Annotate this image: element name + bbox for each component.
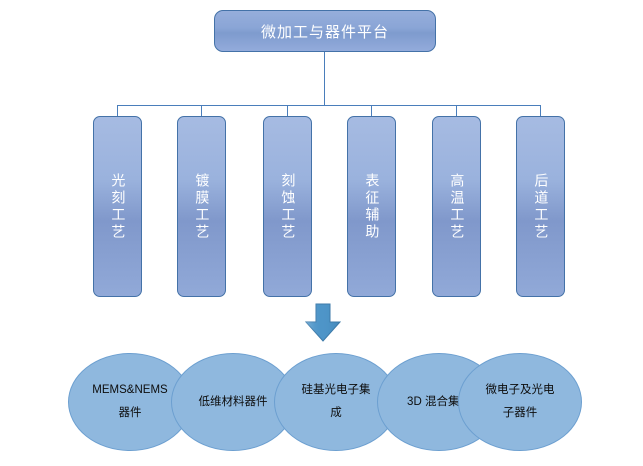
process-box-etching[interactable]: 刻蚀工艺 — [263, 116, 312, 297]
platform-hierarchy-diagram: 微加工与器件平台 光刻工艺 镀膜工艺 刻蚀工艺 表征辅助 高温工艺 后道工艺 — [0, 0, 643, 466]
process-box-label: 表征辅助 — [361, 173, 383, 241]
connector-drop-2 — [201, 105, 202, 116]
connector-drop-6 — [540, 105, 541, 116]
process-box-characterization[interactable]: 表征辅助 — [347, 116, 396, 297]
connector-horizontal-bus — [117, 105, 541, 106]
connector-drop-5 — [456, 105, 457, 116]
process-box-photolithography[interactable]: 光刻工艺 — [93, 116, 142, 297]
process-box-coating[interactable]: 镀膜工艺 — [177, 116, 226, 297]
outcome-ellipse-label: 硅基光电子集成 — [296, 379, 376, 425]
process-box-label: 镀膜工艺 — [191, 173, 213, 241]
outcome-ellipse-micro-optoelectronics[interactable]: 微电子及光电子器件 — [458, 353, 582, 451]
root-node-platform[interactable]: 微加工与器件平台 — [214, 10, 436, 52]
connector-drop-3 — [287, 105, 288, 116]
process-box-label: 光刻工艺 — [107, 173, 129, 241]
process-box-label: 后道工艺 — [530, 173, 552, 241]
process-box-label: 高温工艺 — [446, 173, 468, 241]
process-box-high-temperature[interactable]: 高温工艺 — [432, 116, 481, 297]
connector-drop-1 — [117, 105, 118, 116]
connector-root-vertical — [324, 52, 325, 105]
outcome-ellipse-label: 微电子及光电子器件 — [480, 379, 560, 425]
root-node-label: 微加工与器件平台 — [261, 21, 389, 42]
outcome-ellipse-label: MEMS&NEMS 器件 — [90, 379, 170, 425]
outcome-ellipse-label: 低维材料器件 — [193, 391, 273, 414]
process-box-back-end[interactable]: 后道工艺 — [516, 116, 565, 297]
connector-drop-4 — [371, 105, 372, 116]
process-box-label: 刻蚀工艺 — [277, 173, 299, 241]
arrow-down-icon — [302, 303, 344, 343]
